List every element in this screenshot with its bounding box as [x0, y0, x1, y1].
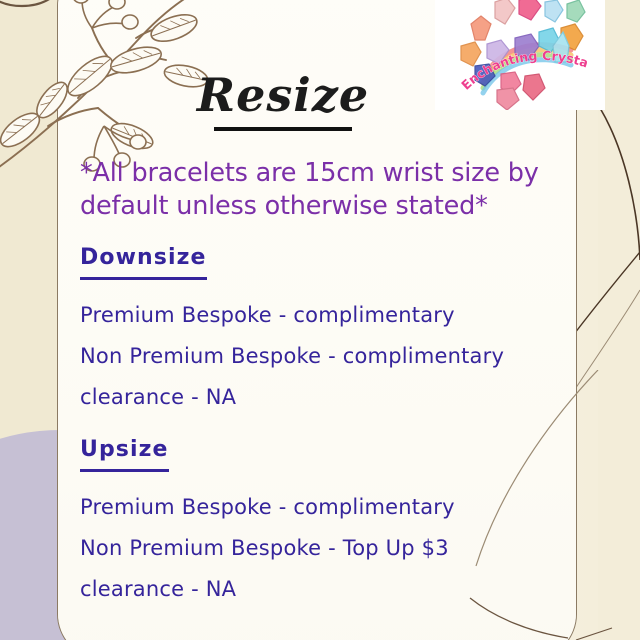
- resize-info-poster: Enchanting Crystals Resize *All bracelet…: [0, 0, 640, 640]
- section-upsize-lines: Premium Bespoke - complimentary Non Prem…: [80, 495, 560, 601]
- section-downsize-heading: Downsize: [80, 245, 207, 280]
- list-item: clearance - NA: [80, 577, 560, 601]
- list-item: Premium Bespoke - complimentary: [80, 495, 560, 519]
- title-underline: [214, 127, 352, 131]
- crystals-rainbow-logo-icon: Enchanting Crystals: [435, 0, 605, 110]
- list-item: Premium Bespoke - complimentary: [80, 303, 560, 327]
- section-downsize-lines: Premium Bespoke - complimentary Non Prem…: [80, 303, 560, 409]
- list-item: Non Premium Bespoke - complimentary: [80, 344, 560, 368]
- list-item: Non Premium Bespoke - Top Up $3: [80, 536, 560, 560]
- section-upsize: Upsize Premium Bespoke - complimentary N…: [80, 437, 560, 601]
- section-downsize: Downsize Premium Bespoke - complimentary…: [80, 245, 560, 409]
- page-title: Resize: [173, 72, 393, 118]
- disclaimer-text: *All bracelets are 15cm wrist size by de…: [80, 157, 565, 222]
- list-item: clearance - NA: [80, 385, 560, 409]
- page-title-block: Resize: [173, 72, 393, 131]
- section-upsize-heading: Upsize: [80, 437, 169, 472]
- brand-logo-badge: Enchanting Crystals: [435, 0, 605, 110]
